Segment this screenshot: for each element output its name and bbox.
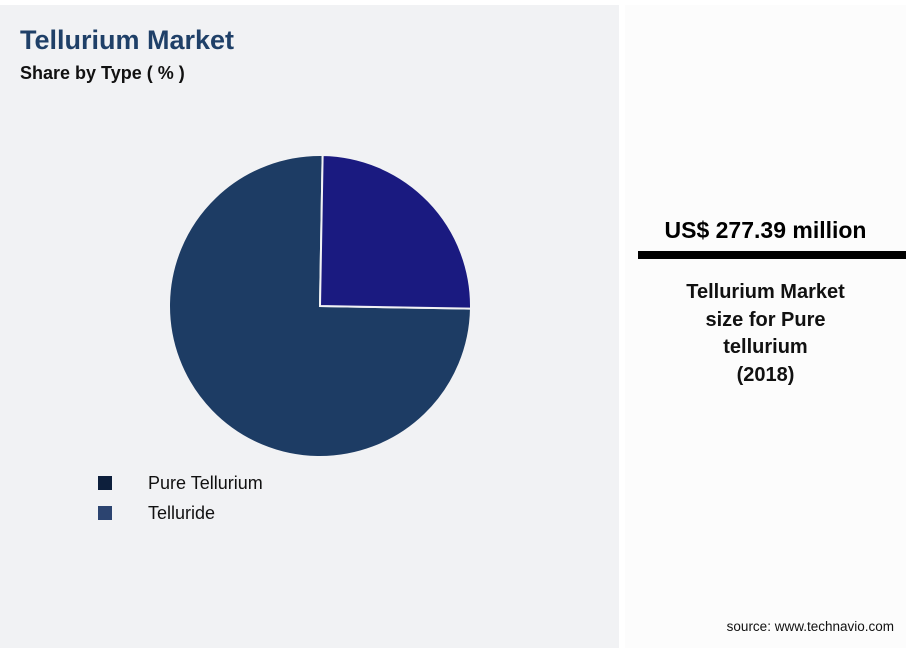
stat-caption-line: Tellurium Market xyxy=(643,279,888,307)
pie-slice[interactable]: Telluride: 25% xyxy=(320,155,471,309)
chart-legend: Pure Tellurium Telluride xyxy=(98,468,538,528)
pie-slice-group: Pure Tellurium: 75%Telluride: 25% xyxy=(169,155,471,457)
legend-item-telluride[interactable]: Telluride xyxy=(98,498,538,528)
legend-swatch-icon xyxy=(98,506,112,520)
stat-caption-line: size for Pure xyxy=(643,307,888,335)
stat-divider xyxy=(638,251,906,259)
pie-chart-svg: Pure Tellurium: 75%Telluride: 25% xyxy=(0,5,619,475)
pie-chart: Pure Tellurium: 75%Telluride: 25% xyxy=(0,5,619,475)
chart-panel: Tellurium Market Share by Type ( % ) Pur… xyxy=(0,5,619,648)
chart-page: Tellurium Market Share by Type ( % ) Pur… xyxy=(0,0,906,648)
stat-caption-line: tellurium xyxy=(643,334,888,362)
legend-item-pure-tellurium[interactable]: Pure Tellurium xyxy=(98,468,538,498)
stat-caption-line: (2018) xyxy=(643,362,888,390)
stat-value: US$ 277.39 million xyxy=(625,217,906,244)
key-stat-panel: US$ 277.39 million Tellurium Market size… xyxy=(625,5,906,648)
stat-caption: Tellurium Market size for Pure tellurium… xyxy=(643,279,888,389)
legend-item-label: Pure Tellurium xyxy=(148,473,263,494)
legend-swatch-icon xyxy=(98,476,112,490)
legend-item-label: Telluride xyxy=(148,503,215,524)
source-note: source: www.technavio.com xyxy=(625,619,906,634)
